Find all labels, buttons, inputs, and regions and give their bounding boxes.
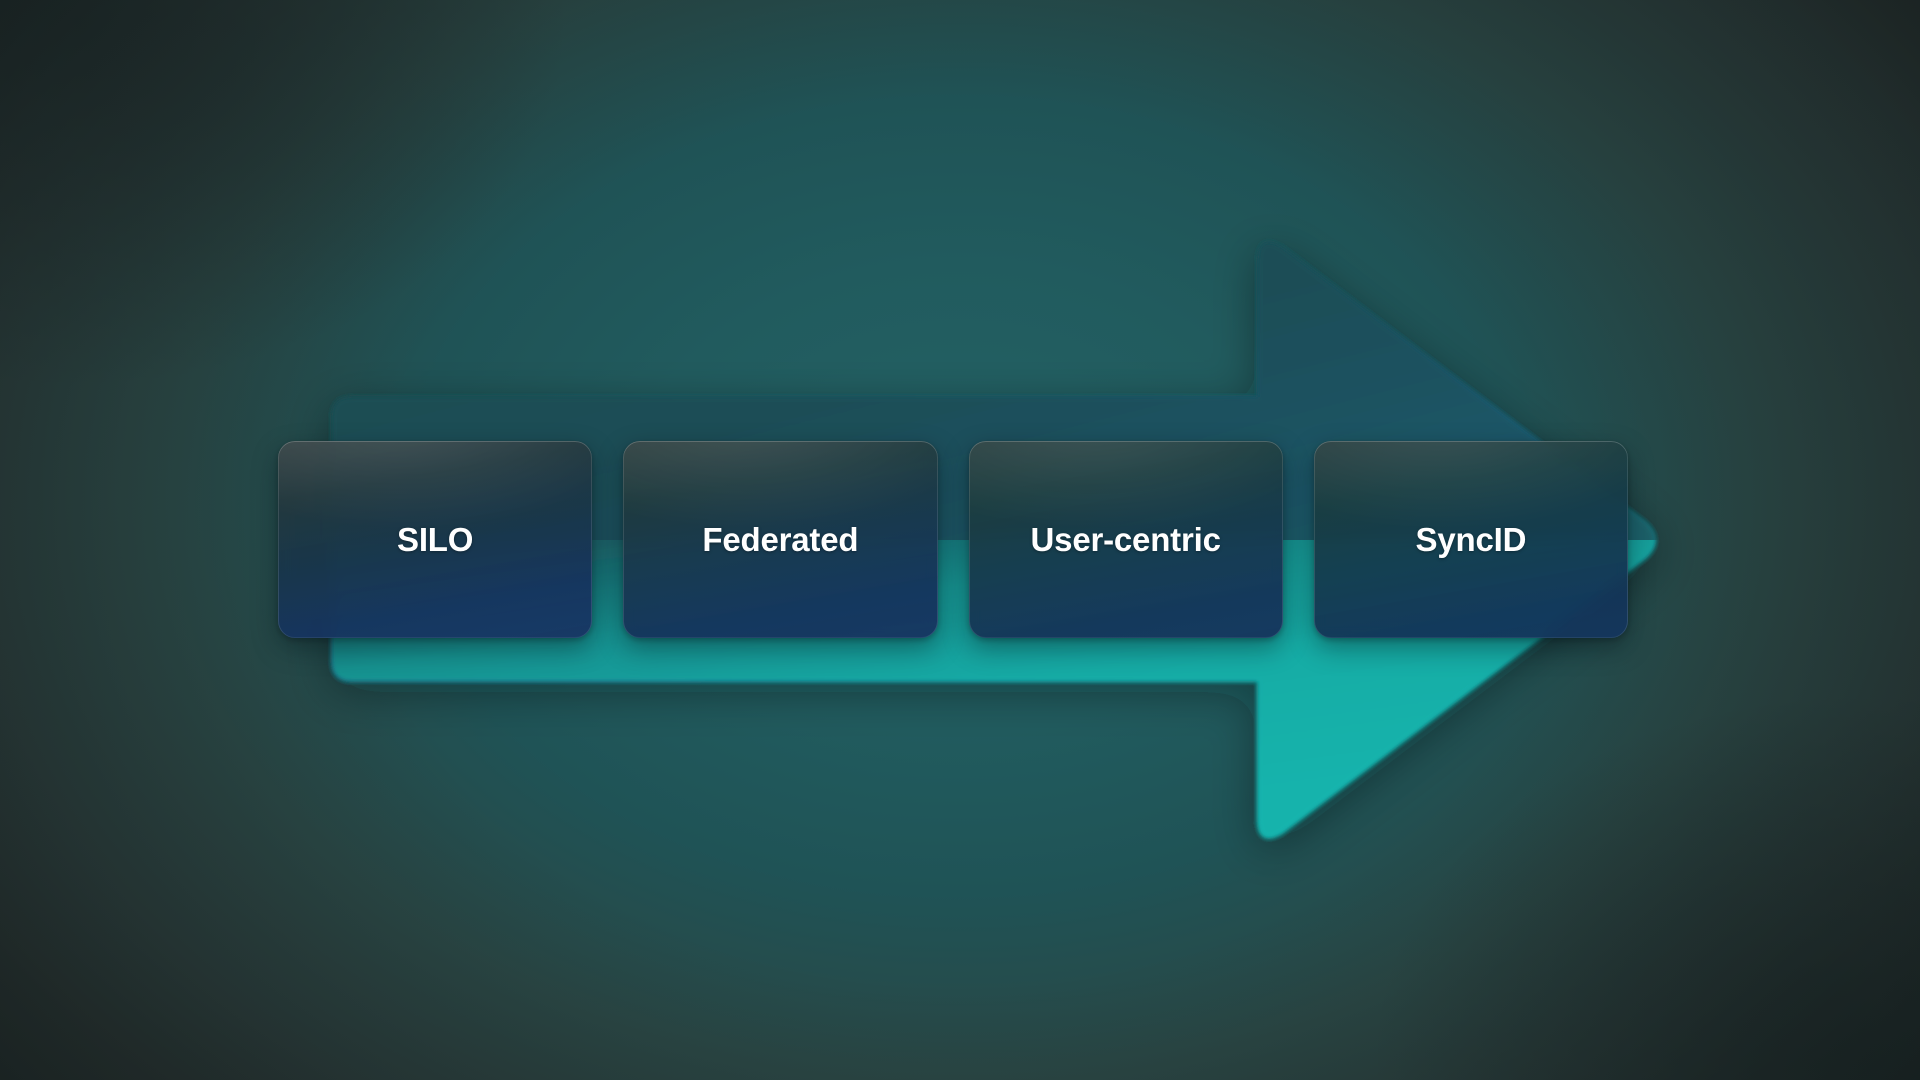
stage-card-user-centric[interactable]: User-centric	[969, 441, 1283, 638]
stage-card-label: SILO	[397, 523, 473, 556]
stage-card-silo[interactable]: SILO	[278, 441, 592, 638]
stage-card-label: User-centric	[1031, 523, 1221, 556]
stage-card-row: SILO Federated User-centric SyncID	[278, 441, 1628, 638]
stage-card-federated[interactable]: Federated	[623, 441, 937, 638]
stage-card-syncid[interactable]: SyncID	[1314, 441, 1628, 638]
diagram-canvas: SILO Federated User-centric SyncID	[0, 0, 1920, 1080]
stage-card-label: SyncID	[1416, 523, 1527, 556]
stage-card-label: Federated	[702, 523, 858, 556]
